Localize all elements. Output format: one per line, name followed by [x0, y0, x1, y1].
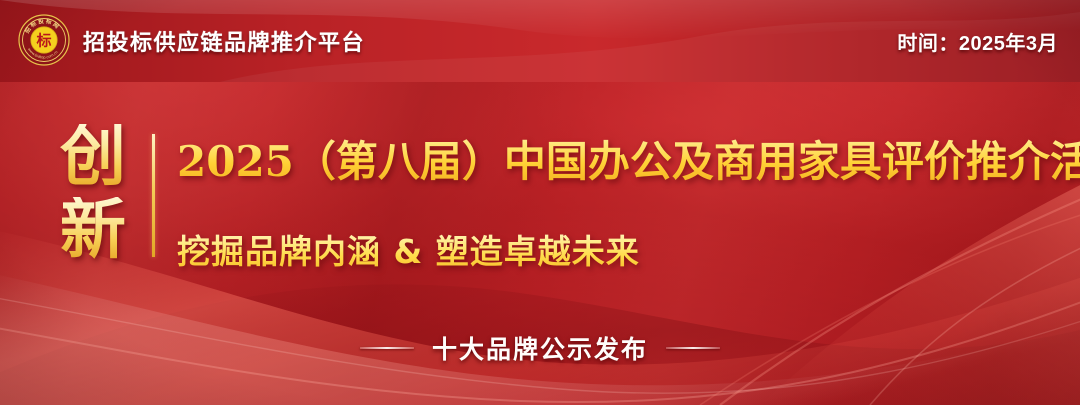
rule-left-icon: [360, 347, 414, 349]
rule-right-icon: [666, 347, 720, 349]
banner-header: 标 招标投标网 www.bidtop.com.cn 招投标供应链品牌推介平台 时…: [0, 0, 1080, 82]
footer-announcement: 十大品牌公示发布: [432, 330, 648, 366]
event-banner: 标 招标投标网 www.bidtop.com.cn 招投标供应链品牌推介平台 时…: [0, 0, 1080, 405]
seal-logo-icon: 标 招标投标网 www.bidtop.com.cn: [18, 14, 70, 66]
circular-seal-logo[interactable]: 标 招标投标网 www.bidtop.com.cn: [18, 14, 70, 66]
keyword-char-2: 新: [60, 197, 126, 262]
event-title: 2025（第八届）中国办公及商用家具评价推介活动: [177, 128, 1080, 189]
vertical-divider: [152, 134, 155, 257]
keyword-char-1: 创: [60, 124, 126, 189]
banner-footer: 十大品牌公示发布: [0, 330, 1080, 366]
svg-text:标: 标: [35, 32, 51, 50]
title-block: 2025（第八届）中国办公及商用家具评价推介活动 挖掘品牌内涵 & 塑造卓越未来: [177, 112, 1080, 273]
event-subtitle: 挖掘品牌内涵 & 塑造卓越未来: [177, 225, 1080, 273]
event-time-label: 时间：2025年3月: [897, 27, 1058, 56]
platform-name: 招投标供应链品牌推介平台: [83, 25, 365, 57]
banner-main: 创 新 2025（第八届）中国办公及商用家具评价推介活动 挖掘品牌内涵 & 塑造…: [56, 112, 1080, 273]
keyword-block: 创 新: [56, 112, 130, 273]
